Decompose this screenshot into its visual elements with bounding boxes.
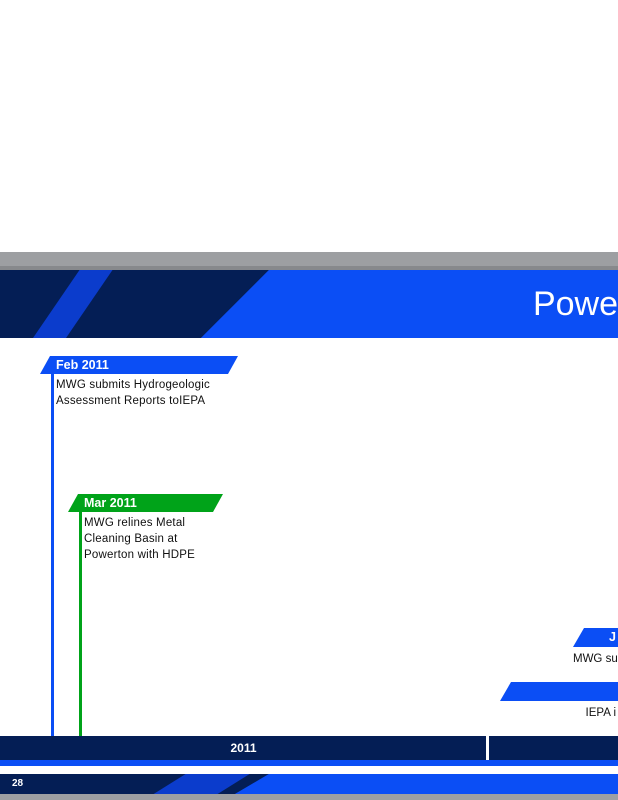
timeline-event-clipped-2[interactable]: IEPA i [500, 682, 618, 721]
year-label-2011: 2011 [0, 736, 487, 760]
footer-gray-bar [0, 794, 618, 800]
slide-blank-area [0, 0, 618, 252]
page-number: 28 [12, 774, 23, 794]
timeline-event-date-label: J [573, 628, 618, 647]
timeline-event-description: IEPA i [500, 705, 618, 721]
timeline-event-description: MWG relines Metal Cleaning Basin at Powe… [68, 515, 223, 563]
header-gray-bar [0, 252, 618, 266]
year-axis-accent-bar [0, 760, 618, 766]
timeline-year-axis: 2011 [0, 736, 618, 764]
timeline-body: Feb 2011 MWG submits Hydrogeologic Asses… [0, 356, 618, 736]
page-title: Powe [533, 270, 618, 338]
slide-header-band: Powe [0, 252, 618, 356]
timeline-event-description: MWG su [573, 651, 618, 667]
timeline-event-date-label [500, 682, 618, 701]
timeline-event-clipped-1[interactable]: J MWG su [573, 628, 618, 667]
slide-footer: 28 [0, 774, 618, 800]
year-axis-divider [486, 736, 489, 760]
timeline-event-description: MWG submits Hydrogeologic Assessment Rep… [40, 377, 238, 409]
connector-line-feb [51, 374, 54, 756]
timeline-event-feb-2011[interactable]: Feb 2011 MWG submits Hydrogeologic Asses… [40, 356, 238, 409]
timeline-event-date-label: Feb 2011 [40, 356, 238, 374]
timeline-event-mar-2011[interactable]: Mar 2011 MWG relines Metal Cleaning Basi… [68, 494, 223, 563]
timeline-event-date-label: Mar 2011 [68, 494, 223, 512]
